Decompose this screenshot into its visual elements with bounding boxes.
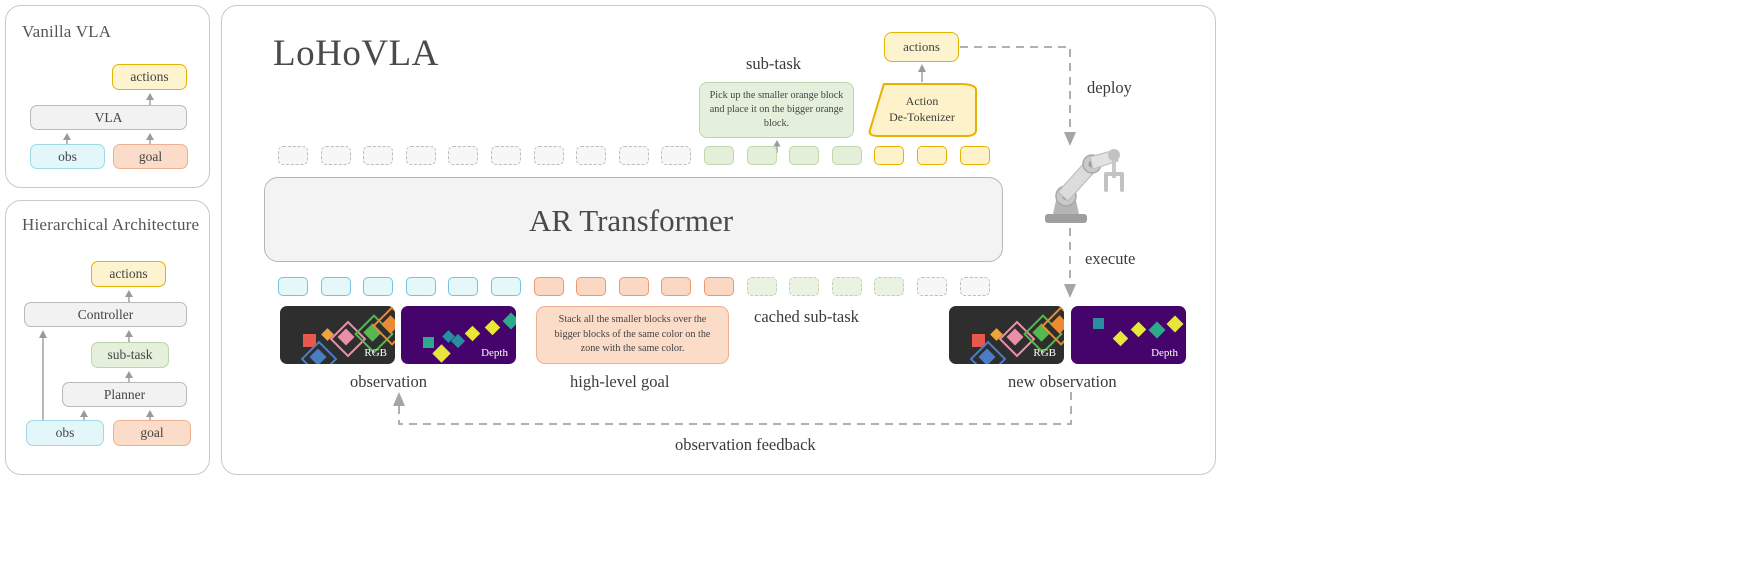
token-dashed-gray: [917, 277, 947, 296]
depth-caption: Depth: [1151, 347, 1178, 359]
token-orange: [576, 277, 606, 296]
vanilla-vla-box[interactable]: VLA: [30, 105, 187, 130]
token-dashed-gray: [363, 146, 393, 165]
token-yellow: [874, 146, 904, 165]
token-dashed-gray: [661, 146, 691, 165]
vanilla-obs-box[interactable]: obs: [30, 144, 105, 169]
token-green: [747, 146, 777, 165]
token-yellow: [917, 146, 947, 165]
rgb-caption: RGB: [364, 347, 387, 359]
hier-planner-box[interactable]: Planner: [62, 382, 187, 407]
cached-subtask-label: cached sub-task: [754, 307, 859, 327]
token-dashed-gray: [491, 146, 521, 165]
token-dashed-gray: [448, 146, 478, 165]
token-dashed-gray: [576, 146, 606, 165]
token-dashed-gray: [406, 146, 436, 165]
token-dashed-green: [789, 277, 819, 296]
hier-controller-box[interactable]: Controller: [24, 302, 187, 327]
robot-arm-icon: [1035, 138, 1135, 228]
token-orange: [661, 277, 691, 296]
panel-title-vanilla: Vanilla VLA: [22, 22, 111, 42]
token-blue: [448, 277, 478, 296]
token-green: [704, 146, 734, 165]
token-dashed-green: [747, 277, 777, 296]
observation-label: observation: [350, 372, 427, 392]
ar-transformer-label: AR Transformer: [529, 203, 733, 239]
vanilla-goal-box[interactable]: goal: [113, 144, 188, 169]
token-blue: [491, 277, 521, 296]
token-blue: [406, 277, 436, 296]
token-blue: [363, 277, 393, 296]
actions-box[interactable]: actions: [884, 32, 959, 62]
arrow-detokenizer-to-actions: [915, 63, 929, 82]
panel-hierarchical-architecture: Hierarchical Architecture actions Contro…: [5, 200, 210, 475]
observation-rgb-image: RGB: [280, 306, 395, 364]
new-observation-label: new observation: [1008, 372, 1117, 392]
new-observation-depth-image: Depth: [1071, 306, 1186, 364]
new-observation-rgb-image: RGB: [949, 306, 1064, 364]
subtask-text-box: Pick up the smaller orange block and pla…: [699, 82, 854, 138]
vanilla-actions-box[interactable]: actions: [112, 64, 187, 90]
token-orange: [619, 277, 649, 296]
token-green: [789, 146, 819, 165]
token-green: [832, 146, 862, 165]
rgb-caption: RGB: [1033, 347, 1056, 359]
high-level-goal-label: high-level goal: [570, 372, 669, 392]
hier-obs-box[interactable]: obs: [26, 420, 104, 446]
hier-subtask-box[interactable]: sub-task: [91, 342, 169, 368]
token-dashed-gray: [619, 146, 649, 165]
deploy-arrow: [958, 40, 1083, 150]
token-orange: [534, 277, 564, 296]
execute-label: execute: [1085, 249, 1135, 269]
output-token-row: [278, 146, 988, 166]
high-level-goal-box: Stack all the smaller blocks over the bi…: [536, 306, 729, 364]
token-dashed-gray: [534, 146, 564, 165]
token-orange: [704, 277, 734, 296]
subtask-caption: sub-task: [746, 54, 801, 74]
hier-goal-box[interactable]: goal: [113, 420, 191, 446]
page-title: LoHoVLA: [273, 32, 439, 75]
observation-feedback-label: observation feedback: [675, 435, 816, 455]
token-dashed-green: [832, 277, 862, 296]
arrow-obs-to-controller: [36, 329, 50, 434]
hier-actions-box[interactable]: actions: [91, 261, 166, 287]
execute-arrow: [1063, 228, 1081, 300]
input-token-row: [278, 277, 988, 297]
observation-feedback-arrow: [385, 392, 1077, 437]
token-dashed-green: [874, 277, 904, 296]
token-dashed-gray: [278, 146, 308, 165]
observation-depth-image: Depth: [401, 306, 516, 364]
panel-title-hierarchical: Hierarchical Architecture: [22, 215, 199, 235]
depth-caption: Depth: [481, 347, 508, 359]
deploy-label: deploy: [1087, 78, 1132, 98]
token-blue: [278, 277, 308, 296]
token-dashed-gray: [321, 146, 351, 165]
token-blue: [321, 277, 351, 296]
token-dashed-gray: [960, 277, 990, 296]
panel-vanilla-vla: Vanilla VLA actions VLA obs goal: [5, 5, 210, 188]
